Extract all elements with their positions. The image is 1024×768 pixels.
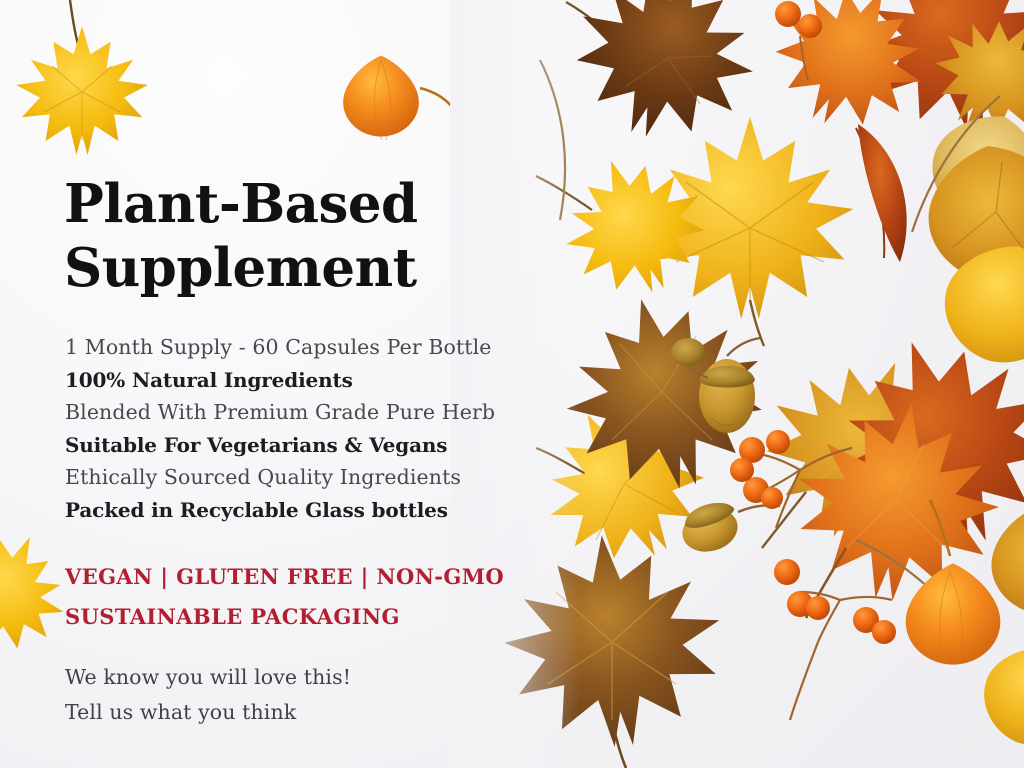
acorn-lower-area-icon: [679, 406, 734, 454]
acorn-bottom-area-icon: [680, 401, 737, 451]
twig-icon: [540, 60, 1000, 610]
second-acorn-icon: [677, 392, 737, 445]
amber-maple-leaf-icon: [751, 0, 951, 154]
acorn-bottom-center-visible-icon: [677, 498, 780, 558]
orange-maple-leaf-lower-icon: [784, 389, 1012, 618]
title-line-1: Plant-Based: [64, 173, 418, 235]
acorn-icon: [699, 338, 760, 433]
mid-yellow-maple-leaf-icon: [536, 137, 724, 315]
claim-item: SUSTAINABLE PACKAGING: [65, 597, 565, 637]
feature-item: 100% Natural Ingredients: [65, 364, 565, 397]
pale-round-leaf-icon: [918, 100, 1024, 238]
feature-list: 1 Month Supply - 60 Capsules Per Bottle …: [65, 331, 565, 527]
feature-item: Ethically Sourced Quality Ingredients: [65, 461, 565, 494]
feature-item: Suitable For Vegetarians & Vegans: [65, 429, 565, 462]
bottom-acorn-icon: [677, 395, 734, 445]
acorn-bottom-center-icon: [682, 379, 743, 433]
golden-round-leaf-icon: [919, 137, 1024, 291]
narrow-rust-leaf-icon: [856, 124, 907, 262]
closing-message: We know you will love this! Tell us what…: [65, 660, 565, 730]
acorn-bottom-icon-2: [682, 405, 742, 458]
physalis-husk-lower-icon: [906, 500, 1001, 665]
acorn-bottom-b-icon: [674, 397, 731, 447]
large-yellow-maple-leaf-icon: [647, 117, 854, 346]
rowan-berry-cluster-icon: [730, 430, 852, 528]
feature-item: Packed in Recyclable Glass bottles: [65, 494, 565, 527]
claims-list: VEGAN | GLUTEN FREE | NON-GMO SUSTAINABL…: [65, 557, 565, 637]
page-title: Plant-Based Supplement: [64, 172, 418, 300]
brown-maple-leaf-icon: [545, 275, 783, 510]
right-edge-bottom-leaf-icon: [982, 497, 1024, 624]
red-orange-maple-leaf-icon: [809, 309, 1024, 577]
feature-item: Blended With Premium Grade Pure Herb: [65, 396, 565, 429]
acorn-bottom-pair-icon: [676, 381, 733, 431]
acorn-low-icon: [675, 385, 737, 438]
claim-item: VEGAN | GLUTEN FREE | NON-GMO: [65, 557, 565, 597]
acorn-bottom-left-icon: [677, 390, 734, 439]
acorn-second-icon: [680, 375, 744, 433]
title-line-2: Supplement: [64, 236, 418, 300]
acorn-lower-icon-visible: [707, 412, 712, 418]
right-edge-yellow-leaf-icon: [933, 232, 1024, 376]
product-poster: Plant-Based Supplement 1 Month Supply - …: [0, 0, 1024, 768]
red-maple-leaf-icon: [554, 0, 778, 162]
closing-line: We know you will love this!: [65, 660, 565, 695]
text-column: Plant-Based Supplement 1 Month Supply - …: [0, 0, 560, 768]
small-acorn-icon: [671, 338, 708, 378]
golden-maple-leaf-top-icon: [912, 0, 1024, 158]
rowan-berry-cluster-lower-icon: [774, 559, 896, 720]
feature-item: 1 Month Supply - 60 Capsules Per Bottle: [65, 331, 565, 364]
rowan-berry-top-icon: [775, 1, 822, 80]
golden-maple-leaf-icon: [739, 328, 982, 569]
bottom-right-yellow-leaf-icon: [970, 631, 1024, 760]
closing-line: Tell us what you think: [65, 695, 565, 730]
rust-maple-leaf-icon: [845, 0, 1024, 148]
acorn-bottom-icon: [689, 376, 733, 434]
